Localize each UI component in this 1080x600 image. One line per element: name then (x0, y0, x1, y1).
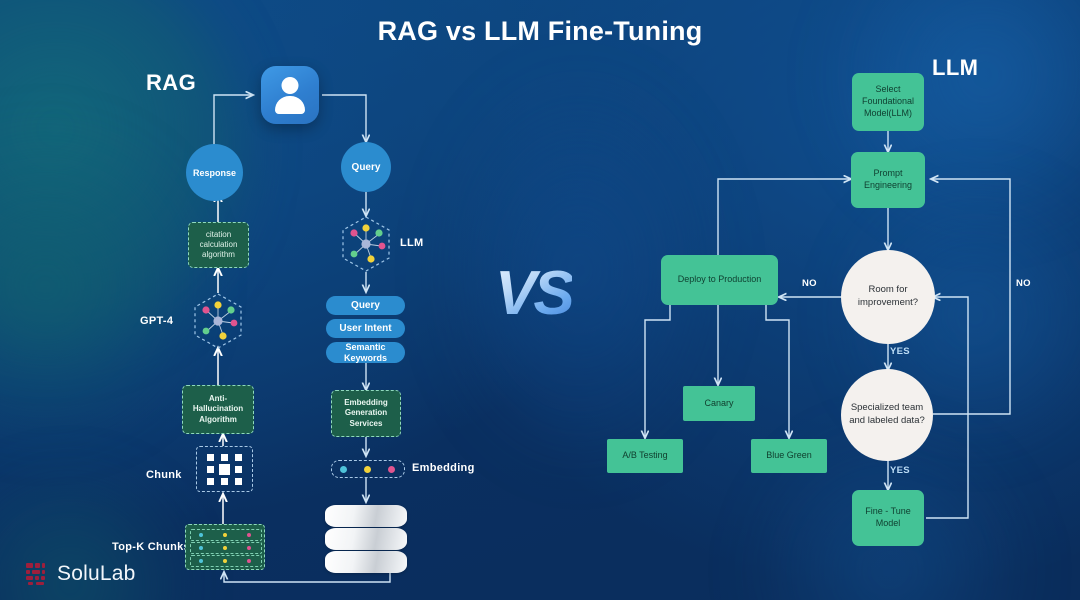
pill-semantic-keywords[interactable]: Semantic Keywords (326, 342, 405, 363)
user-avatar-icon (261, 66, 319, 124)
label-embedding: Embedding (412, 462, 475, 474)
node-ab-testing-label: A/B Testing (622, 450, 667, 462)
edge-label-no-left: NO (802, 278, 817, 289)
node-deploy-to-production[interactable]: Deploy to Production (661, 255, 778, 305)
node-ab-testing[interactable]: A/B Testing (607, 439, 683, 473)
node-response-label: Response (193, 168, 236, 178)
node-embedding-generation-services[interactable]: Embedding Generation Services (331, 390, 401, 437)
node-canary-label: Canary (704, 398, 733, 410)
edge-label-no-right: NO (1016, 278, 1031, 289)
node-topk-chunks-grid (185, 524, 265, 570)
node-query-circle[interactable]: Query (341, 142, 391, 192)
node-embedding-services-label: Embedding Generation Services (335, 398, 397, 429)
node-prompt-engineering[interactable]: Prompt Engineering (851, 152, 925, 208)
llm-node-graph-icon (338, 216, 394, 272)
solulab-mark-icon (26, 563, 50, 585)
node-blue-green[interactable]: Blue Green (751, 439, 827, 473)
node-fine-tune-label: Fine - Tune Model (855, 506, 921, 529)
node-deploy-label: Deploy to Production (678, 274, 762, 286)
brand-name: SoluLab (57, 562, 135, 586)
node-select-model-label: Select Foundational Model(LLM) (855, 84, 921, 119)
decision-specialized-team[interactable]: Specialized team and labeled data? (841, 369, 933, 461)
node-fine-tune-model[interactable]: Fine - Tune Model (852, 490, 924, 546)
node-select-foundational-model[interactable]: Select Foundational Model(LLM) (852, 73, 924, 131)
infographic-canvas: RAG vs LLM Fine-Tuning RAG LLM (0, 0, 1080, 600)
decision-room-for-improvement[interactable]: Room for improvement? (841, 250, 935, 344)
avatar-head-shape (282, 77, 299, 94)
node-anti-hallucination-label: Anti-Hallucination Algorithm (186, 394, 250, 425)
node-response[interactable]: Response (186, 144, 243, 201)
pill-query-label: Query (351, 300, 380, 311)
node-query-circle-label: Query (352, 162, 381, 173)
edge-label-yes-top: YES (890, 346, 910, 357)
vector-database-stack-icon (325, 505, 407, 573)
edge-label-yes-bottom: YES (890, 465, 910, 476)
vs-graphic: VS (495, 258, 572, 329)
node-citation-calculation-algorithm[interactable]: citation calculation algorithm (188, 222, 249, 268)
node-anti-hallucination-algorithm[interactable]: Anti-Hallucination Algorithm (182, 385, 254, 434)
node-blue-green-label: Blue Green (766, 450, 812, 462)
label-topk-chunks: Top-K Chunks (112, 541, 190, 553)
avatar-body-shape (275, 96, 305, 114)
node-embedding-dots (331, 460, 405, 478)
node-citation-label: citation calculation algorithm (192, 230, 245, 261)
pill-semantic-keywords-label: Semantic Keywords (326, 342, 405, 362)
node-prompt-engineering-label: Prompt Engineering (854, 168, 922, 191)
pill-user-intent[interactable]: User Intent (326, 319, 405, 338)
pill-user-intent-label: User Intent (339, 323, 391, 334)
brand-logo[interactable]: SoluLab (26, 562, 135, 586)
label-gpt4: GPT-4 (140, 315, 173, 327)
pill-query[interactable]: Query (326, 296, 405, 315)
decision-specialized-label: Specialized team and labeled data? (847, 402, 927, 427)
node-canary[interactable]: Canary (683, 386, 755, 421)
label-llm: LLM (400, 237, 424, 249)
decision-room-label: Room for improvement? (847, 284, 929, 309)
gpt4-node-graph-icon (190, 293, 246, 349)
label-chunk: Chunk (146, 469, 182, 481)
node-chunk-grid-icon (196, 446, 253, 492)
